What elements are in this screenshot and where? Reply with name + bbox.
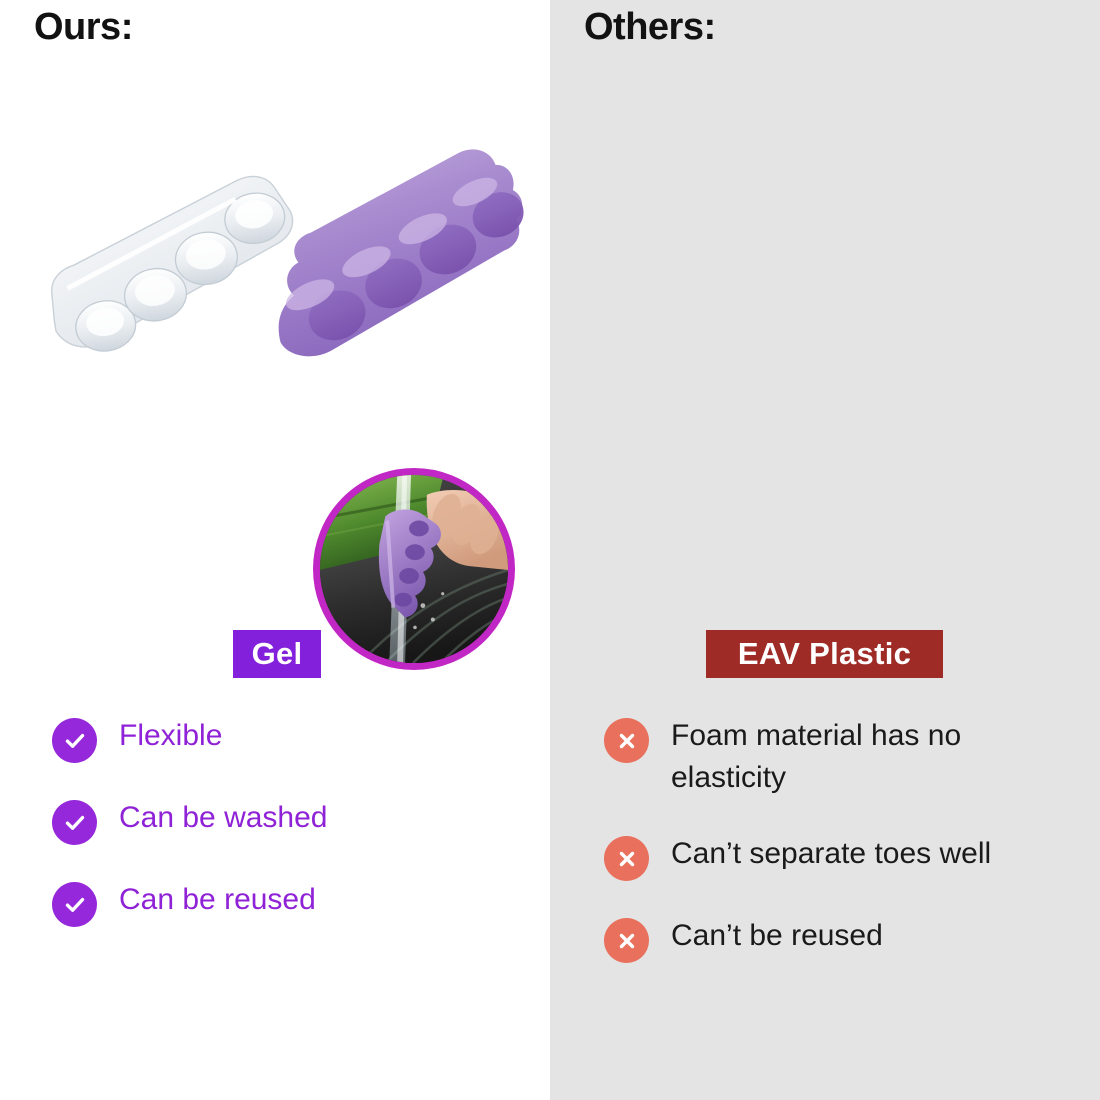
purple-gel-toe-separator-icon xyxy=(262,133,538,372)
list-item-label: Can be reused xyxy=(119,879,316,921)
status-badge-eav-plastic: EAV Plastic xyxy=(706,630,943,678)
check-circle-icon xyxy=(52,718,97,763)
list-item: Foam material has no elasticity xyxy=(550,715,1100,799)
list-item-label: Can be washed xyxy=(119,797,327,839)
inset-photo-content xyxy=(320,475,508,663)
page-title-others: Others: xyxy=(584,6,716,49)
list-item: Can’t separate toes well xyxy=(550,833,1100,881)
list-item: Can be washed xyxy=(0,797,550,845)
check-circle-icon xyxy=(52,882,97,927)
comparison-infographic: Ours: xyxy=(0,0,1100,1100)
list-item-label: Foam material has no elasticity xyxy=(671,715,1071,799)
list-item: Flexible xyxy=(0,715,550,763)
x-circle-icon xyxy=(604,836,649,881)
x-circle-icon xyxy=(604,718,649,763)
check-circle-icon xyxy=(52,800,97,845)
feature-list-others: Foam material has no elasticity Can’t se… xyxy=(550,715,1100,997)
feature-list-ours: Flexible Can be washed Can be reused xyxy=(0,715,550,961)
list-item: Can’t be reused xyxy=(550,915,1100,963)
panel-others: Others: xyxy=(550,0,1100,1100)
gel-product-image xyxy=(20,120,540,540)
page-title-ours: Ours: xyxy=(34,6,133,49)
list-item-label: Can’t separate toes well xyxy=(671,833,991,875)
list-item-label: Can’t be reused xyxy=(671,915,883,957)
x-circle-icon xyxy=(604,918,649,963)
washing-under-running-water-photo xyxy=(313,468,515,670)
status-badge-gel: Gel xyxy=(233,630,321,678)
list-item: Can be reused xyxy=(0,879,550,927)
list-item-label: Flexible xyxy=(119,715,222,757)
panel-ours: Ours: xyxy=(0,0,550,1100)
